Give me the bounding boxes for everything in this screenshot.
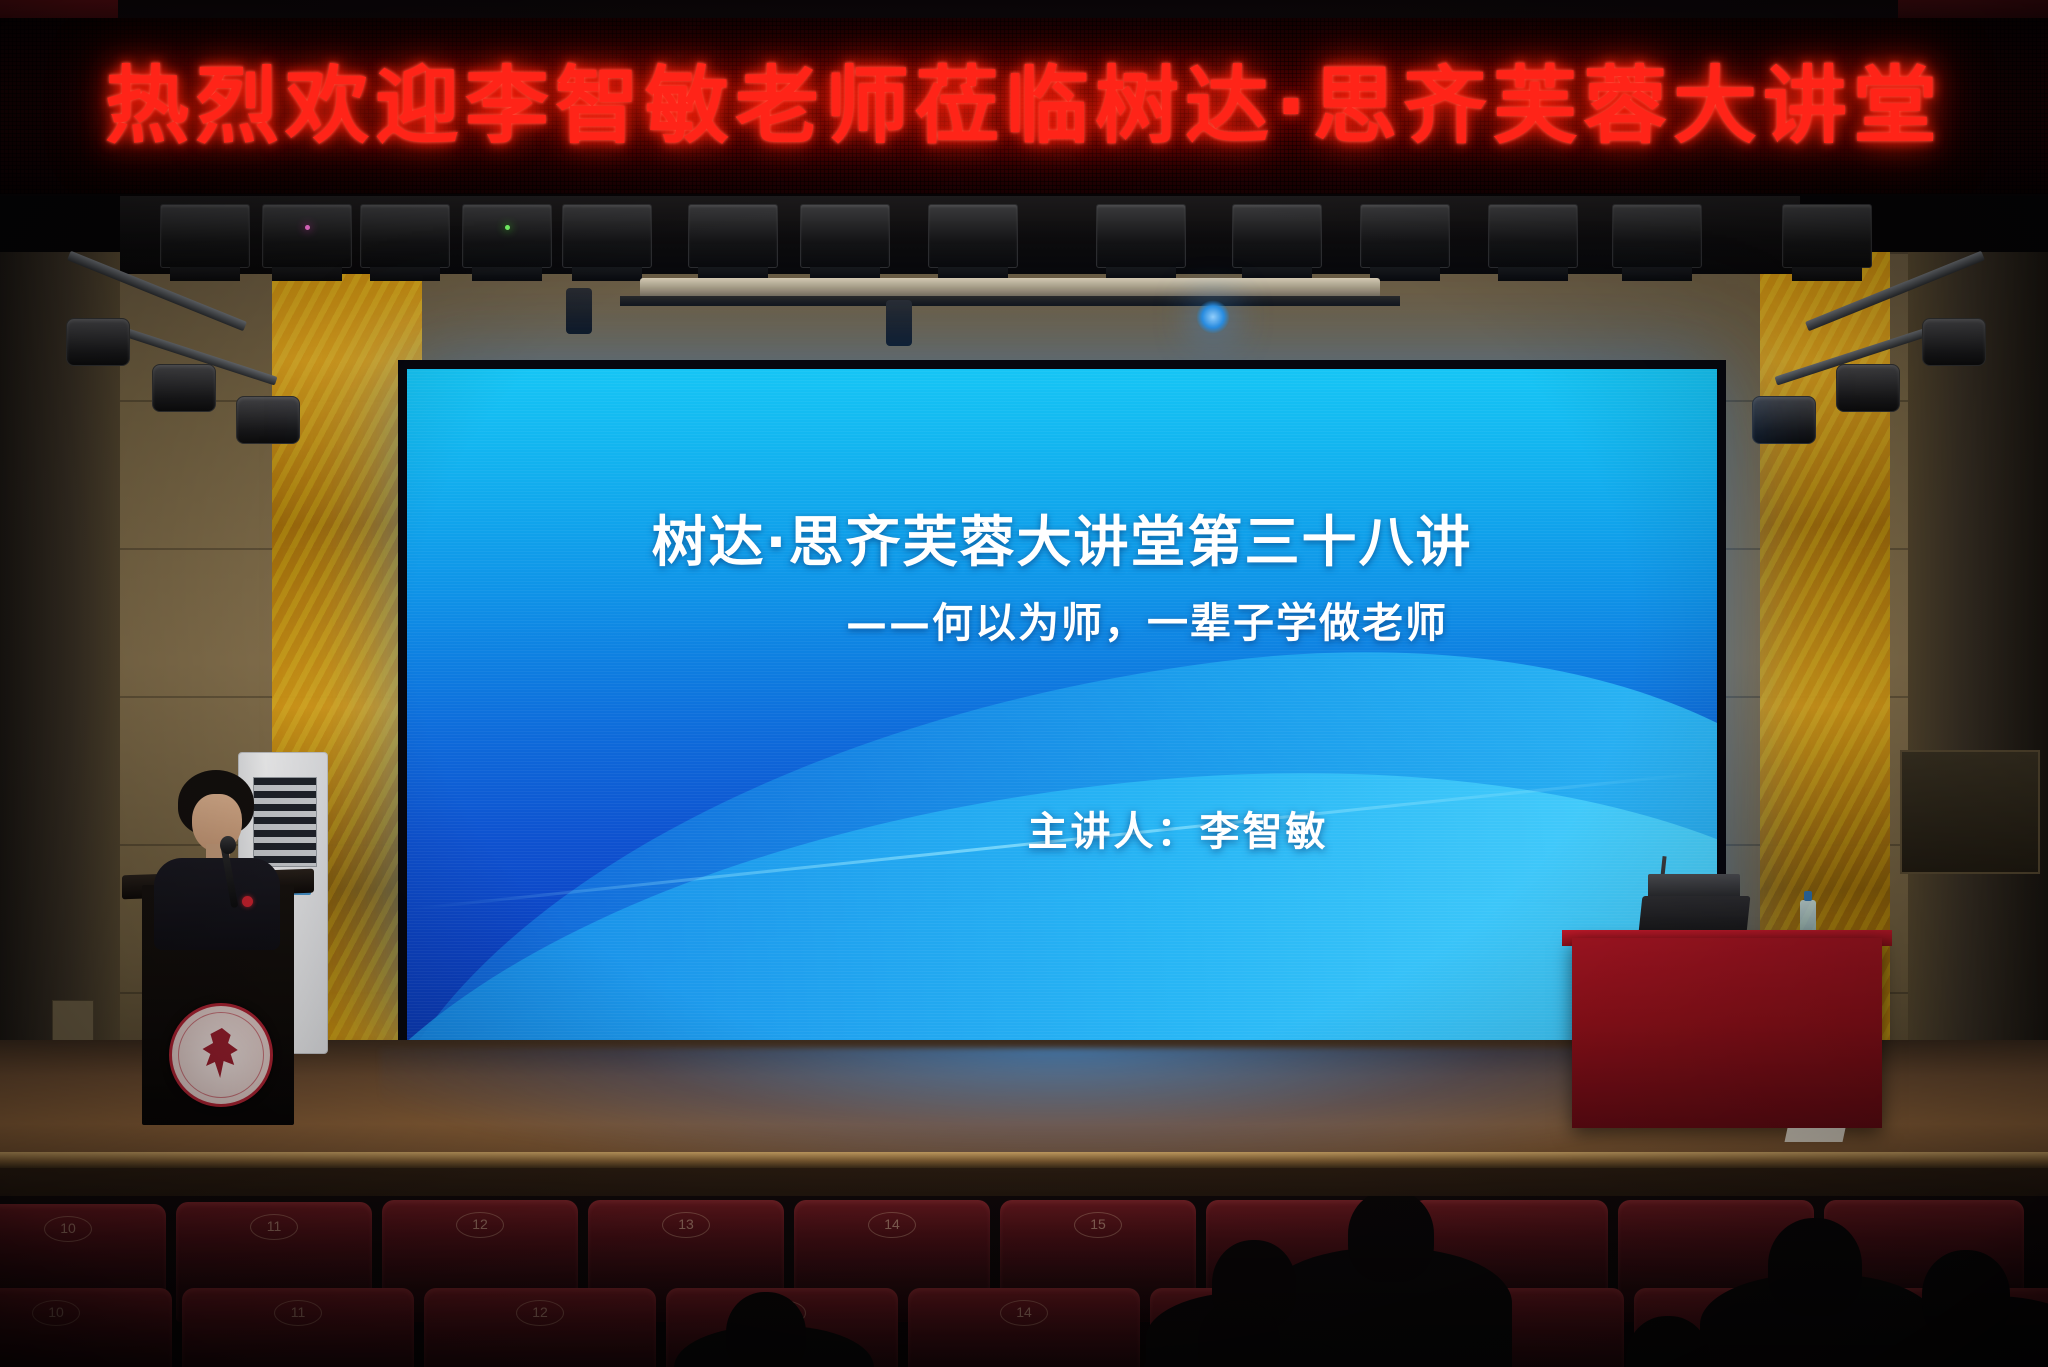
slide-speaker-line: 主讲人：李智敏	[407, 799, 1717, 857]
slide-title: 树达·思齐芙蓉大讲堂第三十八讲	[407, 497, 1717, 577]
stage-lamp-9	[1096, 204, 1186, 268]
slide-text-group: 树达·思齐芙蓉大讲堂第三十八讲 ——何以为师，一辈子学做老师 主讲人：李智敏	[407, 369, 1717, 1041]
seat-front-2: 11	[182, 1288, 414, 1367]
seat-number: 11	[250, 1214, 298, 1240]
audience-seating: 10 11 12 13 14 15 10 11 12 13	[0, 1196, 2048, 1367]
audience-head-1	[1348, 1196, 1434, 1282]
side-lamp-right-3	[1752, 396, 1816, 444]
audience-head-4	[1922, 1250, 2010, 1342]
truss-bar	[640, 278, 1380, 298]
wall-vent	[1900, 750, 2040, 874]
hanging-light-mid	[886, 300, 912, 346]
slide-canvas: 树达·思齐芙蓉大讲堂第三十八讲 ——何以为师，一辈子学做老师 主讲人：李智敏	[407, 369, 1717, 1041]
side-lamp-right-1	[1922, 318, 1986, 366]
stage-lamp-4	[462, 204, 552, 268]
emblem-ring	[178, 1012, 264, 1098]
stage-lamp-6	[688, 204, 778, 268]
seat-number: 12	[456, 1212, 504, 1238]
seat-number: 14	[868, 1212, 916, 1238]
stage-lamp-2	[262, 204, 352, 268]
seat-front-5: 14	[908, 1288, 1140, 1367]
stage-lamp-3	[360, 204, 450, 268]
seat-front-3: 12	[424, 1288, 656, 1367]
stage-lamp-11	[1360, 204, 1450, 268]
led-presentation-screen: 树达·思齐芙蓉大讲堂第三十八讲 ——何以为师，一辈子学做老师 主讲人：李智敏	[398, 360, 1726, 1050]
seat-number: 14	[1000, 1300, 1048, 1326]
led-welcome-banner: 热烈欢迎李智敏老师莅临树达·思齐芙蓉大讲堂	[0, 18, 2048, 194]
stage-lamp-7	[800, 204, 890, 268]
stage-lamp-8	[928, 204, 1018, 268]
side-lamp-right-2	[1836, 364, 1900, 412]
stage-lamp-13	[1612, 204, 1702, 268]
led-banner-text: 热烈欢迎李智敏老师莅临树达·思齐芙蓉大讲堂	[105, 64, 1943, 148]
audience-head-5	[726, 1292, 806, 1367]
stage-lamp-5	[562, 204, 652, 268]
seat-number: 13	[662, 1212, 710, 1238]
seat-number: 12	[516, 1300, 564, 1326]
seat-number: 10	[44, 1216, 92, 1242]
speaker-person	[148, 770, 288, 910]
stage-edge	[0, 1152, 2048, 1168]
seat-front-1: 10	[0, 1288, 172, 1367]
blue-spotlight	[1196, 300, 1230, 334]
seat-number: 10	[32, 1300, 80, 1326]
stage-lamp-12	[1488, 204, 1578, 268]
truss-bar-shadow	[620, 296, 1400, 306]
stage-lamp-14	[1782, 204, 1872, 268]
side-lamp-left-2	[152, 364, 216, 412]
audience-head-3	[1768, 1218, 1862, 1316]
hanging-light-left	[566, 288, 592, 334]
side-lamp-left-1	[66, 318, 130, 366]
seat-number: 11	[274, 1300, 322, 1326]
speaker-body	[154, 858, 280, 950]
podium-microphone-head	[220, 836, 236, 854]
wall-right-shadow	[1908, 252, 2048, 1162]
lecture-hall-photo: 热烈欢迎李智敏老师莅临树达·思齐芙蓉大讲堂 树达·思齐芙蓉大讲堂第三十八讲	[0, 0, 2048, 1367]
university-emblem-icon	[169, 1003, 273, 1107]
papers-on-floor	[1785, 1128, 1846, 1142]
seat-number: 15	[1074, 1212, 1122, 1238]
slide-subtitle: ——何以为师，一辈子学做老师	[407, 589, 1717, 649]
side-lamp-left-3	[236, 396, 300, 444]
stage-lamp-1	[160, 204, 250, 268]
stage-lamp-10	[1232, 204, 1322, 268]
speaker-lapel-badge	[242, 896, 253, 907]
